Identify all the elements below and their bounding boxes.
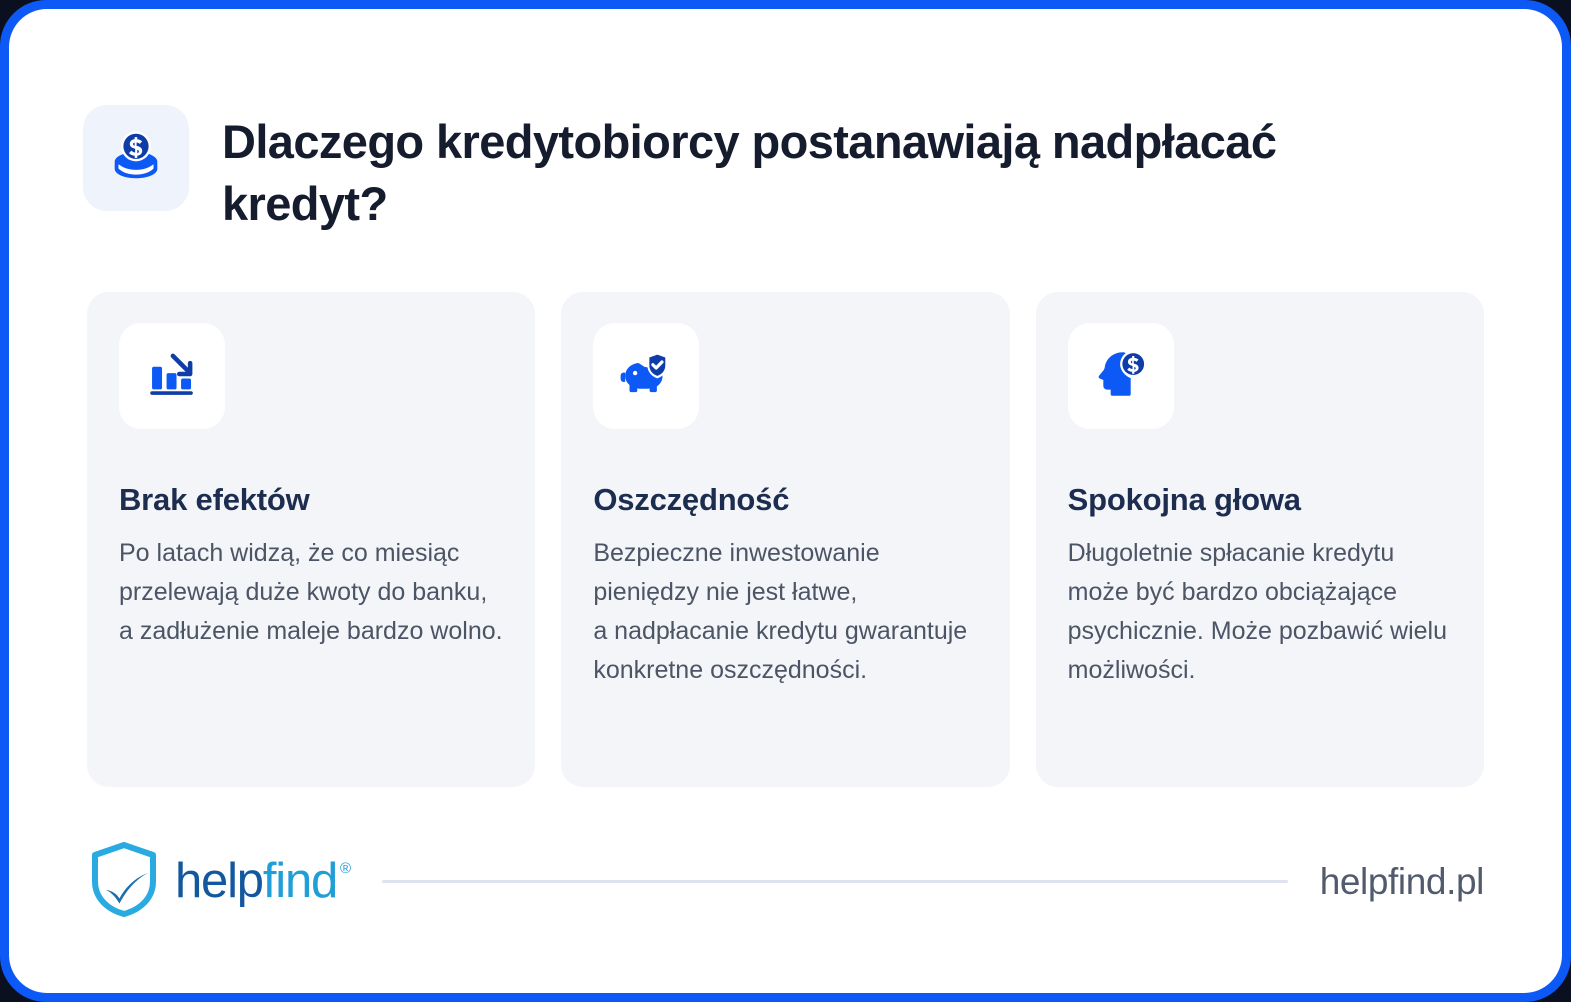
card-body: Bezpieczne inwestowanie pieniędzy nie je… bbox=[593, 534, 977, 690]
footer: helpfind® helpfind.pl bbox=[87, 840, 1484, 923]
declining-bar-chart-icon bbox=[143, 345, 201, 408]
piggy-bank-shield-icon bbox=[617, 345, 675, 408]
card-icon-tile bbox=[593, 323, 699, 429]
card-brak-efektow: Brak efektów Po latach widzą, że co mies… bbox=[87, 292, 535, 787]
infographic-canvas: Dlaczego kredytobiorcy postanawiają nadp… bbox=[9, 9, 1562, 993]
helpfind-logo[interactable]: helpfind® bbox=[87, 840, 350, 923]
coin-dollar-icon bbox=[105, 125, 167, 192]
registered-trademark-icon: ® bbox=[340, 861, 350, 876]
header-icon-tile bbox=[83, 105, 189, 211]
card-body: Długoletnie spłacanie kredytu może być b… bbox=[1068, 534, 1452, 690]
header: Dlaczego kredytobiorcy postanawiają nadp… bbox=[83, 105, 1488, 235]
helpfind-wordmark: helpfind® bbox=[175, 857, 350, 906]
card-title: Oszczędność bbox=[593, 481, 977, 518]
logo-text-help: help bbox=[175, 857, 263, 906]
card-spokojna-glowa: Spokojna głowa Długoletnie spłacanie kre… bbox=[1036, 292, 1484, 787]
logo-text-find: find bbox=[263, 857, 337, 906]
infographic-frame: Dlaczego kredytobiorcy postanawiają nadp… bbox=[0, 0, 1571, 1002]
cards-row: Brak efektów Po latach widzą, że co mies… bbox=[87, 292, 1484, 787]
head-coin-icon bbox=[1092, 345, 1150, 408]
footer-divider bbox=[382, 880, 1288, 883]
card-title: Brak efektów bbox=[119, 481, 503, 518]
helpfind-shield-check-icon bbox=[87, 840, 161, 923]
card-icon-tile bbox=[119, 323, 225, 429]
card-body: Po latach widzą, że co miesiąc przelewaj… bbox=[119, 534, 503, 651]
card-oszczednosc: Oszczędność Bezpieczne inwestowanie pien… bbox=[561, 292, 1009, 787]
footer-url: helpfind.pl bbox=[1320, 861, 1484, 903]
page-title: Dlaczego kredytobiorcy postanawiają nadp… bbox=[222, 105, 1312, 235]
card-icon-tile bbox=[1068, 323, 1174, 429]
card-title: Spokojna głowa bbox=[1068, 481, 1452, 518]
